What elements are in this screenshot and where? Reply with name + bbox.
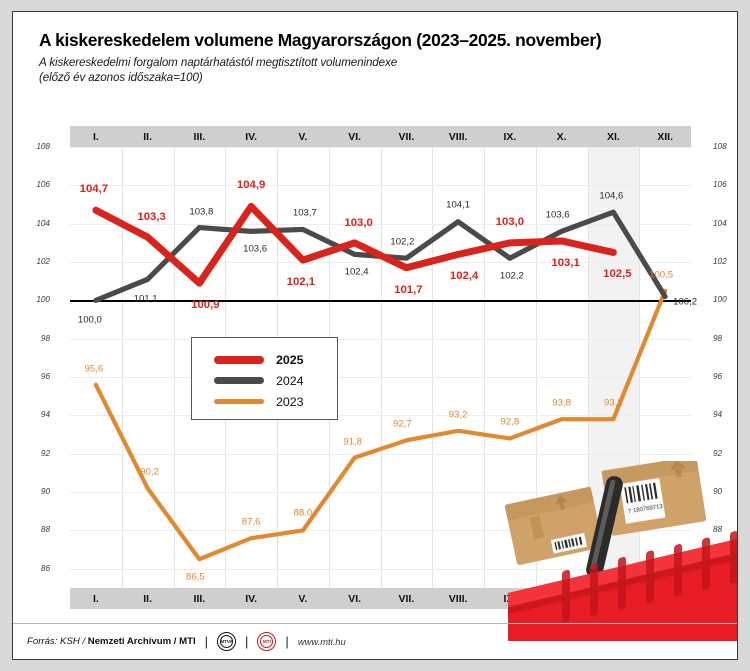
mti-logo-text: MTI — [260, 635, 273, 648]
y-tick-right-98: 98 — [713, 334, 735, 343]
month-axis-top: I.II.III.IV.V.VI.VII.VIII.IX.X.XI.XII. — [70, 126, 691, 147]
page-title: A kiskereskedelem volumene Magyarországo… — [39, 30, 719, 51]
series-line-2025 — [96, 206, 614, 283]
month-label-III: III. — [174, 126, 226, 147]
y-tick-left-88: 88 — [28, 525, 50, 534]
month-label-VI: VI. — [329, 126, 381, 147]
legend-swatch-2025 — [214, 356, 264, 364]
month-label-V: V. — [277, 588, 329, 609]
month-label-I: I. — [70, 588, 122, 609]
month-label-VII: VII. — [381, 126, 433, 147]
y-tick-left-104: 104 — [28, 219, 50, 228]
infographic-card: A kiskereskedelem volumene Magyarországo… — [12, 11, 738, 660]
subtitle-line-2: (előző év azonos időszaka=100) — [39, 71, 719, 84]
y-tick-left-108: 108 — [28, 142, 50, 151]
y-tick-left-96: 96 — [28, 372, 50, 381]
footer-url: www.mti.hu — [298, 636, 346, 647]
month-label-IX: IX. — [484, 126, 536, 147]
month-label-VII: VII. — [381, 588, 433, 609]
month-label-I: I. — [70, 126, 122, 147]
month-label-II: II. — [122, 588, 174, 609]
y-tick-left-92: 92 — [28, 449, 50, 458]
month-label-VIII: VIII. — [432, 126, 484, 147]
shopping-basket-illustration: 7 180769713 — [502, 461, 737, 641]
mti-logo: MTI — [257, 632, 276, 651]
mtva-logo-text: MTVA — [220, 635, 233, 648]
y-tick-right-108: 108 — [713, 142, 735, 151]
y-tick-right-96: 96 — [713, 372, 735, 381]
y-tick-right-92: 92 — [713, 449, 735, 458]
legend-swatch-2023 — [214, 399, 264, 404]
month-label-II: II. — [122, 126, 174, 147]
legend-label-2025: 2025 — [276, 353, 304, 367]
y-tick-right-94: 94 — [713, 410, 735, 419]
y-tick-right-106: 106 — [713, 180, 735, 189]
y-tick-left-86: 86 — [28, 564, 50, 573]
chart-legend: 2025 2024 2023 — [191, 337, 338, 420]
month-label-V: V. — [277, 126, 329, 147]
footer-divider-1: | — [205, 634, 208, 649]
legend-item-2023: 2023 — [192, 391, 337, 412]
y-tick-left-90: 90 — [28, 487, 50, 496]
legend-swatch-2024 — [214, 377, 264, 384]
y-tick-left-106: 106 — [28, 180, 50, 189]
footer: Forrás: KSH / Nemzeti Archívum / MTI | M… — [13, 623, 737, 659]
subtitle-line-1: A kiskereskedelmi forgalom naptárhatástó… — [39, 56, 719, 69]
month-label-IV: IV. — [225, 588, 277, 609]
month-label-XI: XI. — [588, 126, 640, 147]
month-label-IV: IV. — [225, 126, 277, 147]
month-label-X: X. — [536, 126, 588, 147]
month-label-VI: VI. — [329, 588, 381, 609]
source-prefix: Forrás: KSH / — [27, 636, 88, 647]
y-tick-right-104: 104 — [713, 219, 735, 228]
source-bold: Nemzeti Archívum / MTI — [88, 636, 196, 647]
month-label-III: III. — [174, 588, 226, 609]
y-tick-left-102: 102 — [28, 257, 50, 266]
header: A kiskereskedelem volumene Magyarországo… — [39, 30, 719, 84]
legend-label-2023: 2023 — [276, 395, 304, 409]
y-tick-left-98: 98 — [28, 334, 50, 343]
y-tick-left-100: 100 — [28, 295, 50, 304]
month-label-VIII: VIII. — [432, 588, 484, 609]
footer-divider-3: | — [285, 634, 288, 649]
month-label-XII: XII. — [639, 126, 691, 147]
footer-divider-2: | — [245, 634, 248, 649]
parcel-box-left — [505, 487, 604, 566]
y-tick-left-94: 94 — [28, 410, 50, 419]
source-text: Forrás: KSH / Nemzeti Archívum / MTI — [27, 636, 196, 647]
y-tick-right-100: 100 — [713, 295, 735, 304]
legend-item-2024: 2024 — [192, 370, 337, 391]
y-tick-right-102: 102 — [713, 257, 735, 266]
legend-label-2024: 2024 — [276, 374, 304, 388]
mtva-logo: MTVA — [217, 632, 236, 651]
legend-item-2025: 2025 — [192, 349, 337, 370]
